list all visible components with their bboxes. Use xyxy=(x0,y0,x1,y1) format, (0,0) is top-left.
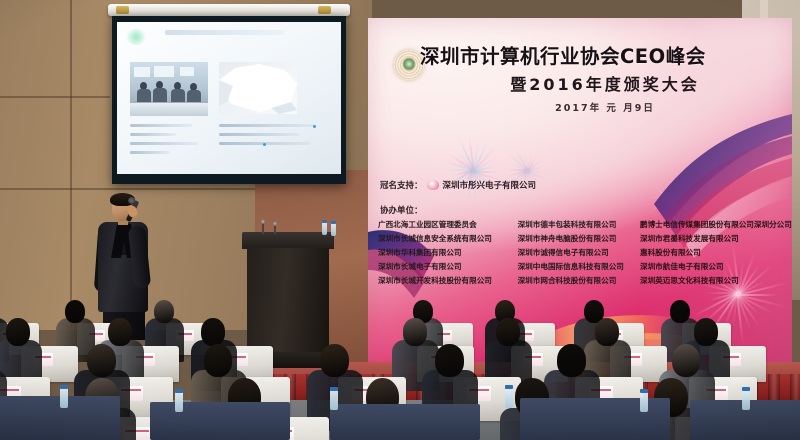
coorganizer-item: 广西北海工业园区管理委员会 xyxy=(378,221,512,229)
audience-table xyxy=(330,404,480,440)
bottle-cap xyxy=(175,389,183,393)
coorganizer-item: 深圳市德丰包装科技有限公司 xyxy=(518,221,634,229)
bottle-cap xyxy=(505,385,513,389)
conference-photo: 深圳市计算机行业协会CEO峰会 暨2016年度颁奖大会 2017年 元 月9日 … xyxy=(0,0,800,440)
water-bottle xyxy=(175,392,183,412)
title-sponsor-name: 深圳市彤兴电子有限公司 xyxy=(443,179,537,191)
audience-person-head xyxy=(694,318,718,346)
slide-title-bar xyxy=(165,30,285,35)
coorganizer-item: 惠科股份有限公司 xyxy=(640,249,788,257)
coorganizer-label: 协办单位： xyxy=(380,204,423,216)
audience-person-head xyxy=(670,300,690,323)
audience-person-head xyxy=(403,318,427,346)
audience-person-head xyxy=(6,318,30,346)
water-bottle xyxy=(322,222,327,235)
coorganizer-item: 深圳中电国际信息科技有限公司 xyxy=(518,263,634,271)
audience-person-head xyxy=(154,300,174,323)
audience-person-head xyxy=(204,344,233,377)
coorganizer-item: 深圳市航佳电子有限公司 xyxy=(640,263,788,271)
coorganizer-item: 深圳市长城电子有限公司 xyxy=(378,263,512,271)
banner-date: 2017年 元 月9日 xyxy=(420,100,790,114)
title-sponsor-label: 冠名支持： xyxy=(380,179,423,191)
water-bottle xyxy=(640,392,648,412)
slide-photo-left xyxy=(130,62,208,116)
coorganizer-item: 深圳市神舟电脑股份有限公司 xyxy=(518,235,634,243)
slide-logo-glow xyxy=(126,29,146,45)
screen-roller-housing xyxy=(108,4,350,16)
housing-cap xyxy=(116,6,129,14)
handheld-microphone-head xyxy=(128,197,135,204)
coorganizer-item: 深圳市君墨科技发展有限公司 xyxy=(640,235,788,243)
coorganizer-item: 鹏博士电信传媒集团股份有限公司深圳分公司 xyxy=(640,221,788,229)
podium-top xyxy=(242,232,334,249)
coorganizer-item: 深圳市长城信息安全系统有限公司 xyxy=(378,235,512,243)
audience-person-head xyxy=(87,344,116,377)
audience-person-head xyxy=(557,344,586,377)
coorganizer-item: 深圳英迈思文化科技有限公司 xyxy=(640,277,788,285)
water-bottle xyxy=(331,223,336,236)
water-bottle xyxy=(742,390,750,410)
title-sponsor-row: 冠名支持： 深圳市彤兴电子有限公司 xyxy=(380,179,536,191)
water-bottle xyxy=(60,388,68,408)
podium-microphone-head xyxy=(261,219,265,224)
bottle-cap xyxy=(330,387,338,391)
slide-photo-right xyxy=(219,62,297,114)
banner-title: 深圳市计算机行业协会CEO峰会 xyxy=(420,40,790,69)
audience-person-head xyxy=(320,344,349,377)
coorganizer-item: 深圳市华科集团有限公司 xyxy=(378,249,512,257)
wall-seam xyxy=(70,0,72,330)
podium-microphone-head xyxy=(273,221,277,226)
sponsor-logo-icon xyxy=(427,180,439,190)
water-bottle xyxy=(330,390,338,410)
audience-person-head xyxy=(65,300,85,323)
audience-person-head xyxy=(435,344,464,377)
coorganizer-item: 深圳市长城开发科技股份有限公司 xyxy=(378,277,512,285)
bottle-cap xyxy=(640,389,648,393)
audience-person-head xyxy=(108,318,132,346)
audience-person-head xyxy=(496,318,520,346)
banner-subtitle: 暨2016年度颁奖大会 xyxy=(420,71,790,95)
audience-person-head xyxy=(595,318,619,346)
projected-slide xyxy=(117,22,341,174)
audience-table xyxy=(150,402,290,440)
projection-screen xyxy=(112,16,346,184)
coorganizer-item: 深圳市网合科技股份有限公司 xyxy=(518,277,634,285)
bottle-cap xyxy=(60,385,68,389)
bottle-cap xyxy=(742,387,750,391)
wall-seam xyxy=(0,96,110,98)
coorganizer-column-3: 鹏博士电信传媒集团股份有限公司深圳分公司深圳市君墨科技发展有限公司惠科股份有限公… xyxy=(640,221,788,285)
audience-person-head xyxy=(672,344,701,377)
coorganizer-columns: 广西北海工业园区管理委员会深圳市长城信息安全系统有限公司深圳市华科集团有限公司深… xyxy=(378,221,788,285)
water-bottle xyxy=(505,388,513,408)
coorganizer-column-1: 广西北海工业园区管理委员会深圳市长城信息安全系统有限公司深圳市华科集团有限公司深… xyxy=(378,221,512,285)
coorganizer-column-2: 深圳市德丰包装科技有限公司深圳市神舟电脑股份有限公司深圳市诚得信电子有限公司深圳… xyxy=(518,221,634,285)
coorganizer-item: 深圳市诚得信电子有限公司 xyxy=(518,249,634,257)
bottle-cap xyxy=(331,221,336,224)
housing-cap xyxy=(318,6,331,14)
audience-person-head xyxy=(201,318,225,346)
bottle-cap xyxy=(322,220,327,223)
emblem-core xyxy=(403,57,416,70)
